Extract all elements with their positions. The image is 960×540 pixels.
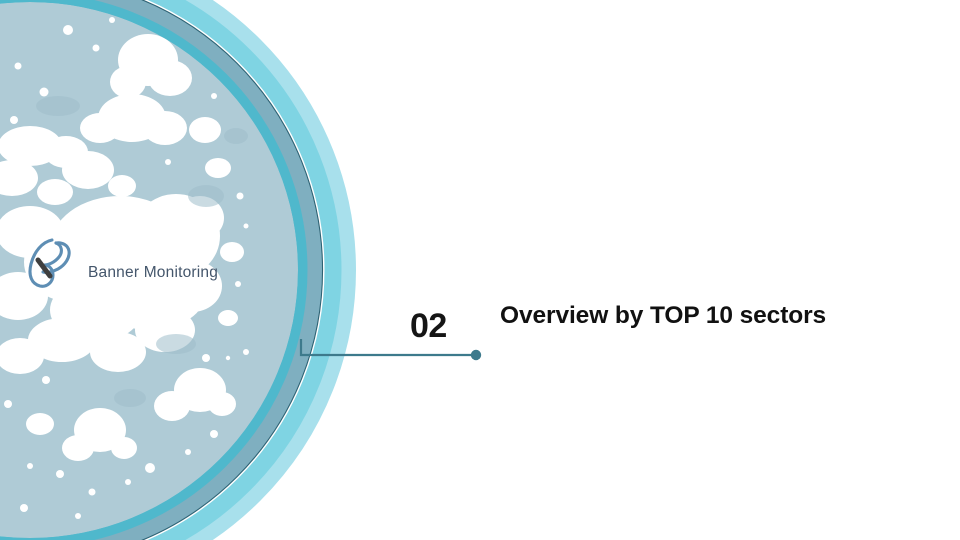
section-title-line-2: sectors — [740, 302, 826, 329]
brand-lockup: Banner Monitoring — [22, 232, 218, 294]
section-title: Overview by TOP 10 sectors — [500, 300, 830, 333]
section-number: 02 — [410, 307, 447, 346]
presentation-slide: Banner Monitoring 02 Overview by TOP 10 … — [0, 0, 960, 540]
brand-name: Banner Monitoring — [88, 264, 218, 282]
script-b-logo-icon — [22, 232, 84, 294]
section-title-line-1: Overview by TOP 10 — [500, 302, 733, 329]
